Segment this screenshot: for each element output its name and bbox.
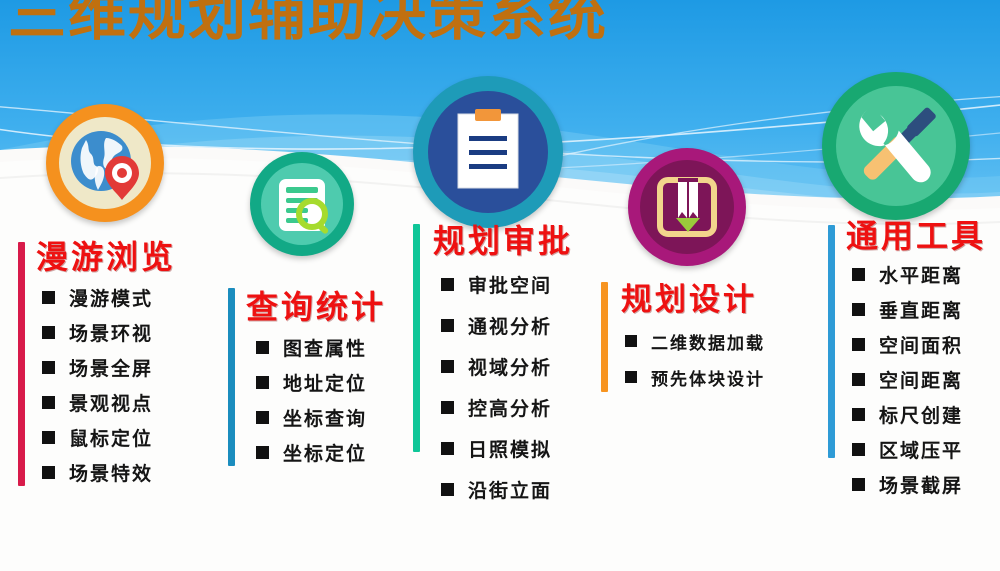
bullet-icon: [852, 338, 865, 351]
column-items-approval: 审批空间 通视分析 视域分析 控高分析 日照模拟 沿街立面: [441, 264, 552, 510]
icon-badge-design[interactable]: [628, 148, 746, 266]
list-item-label: 日照模拟: [468, 435, 552, 462]
column-accent-bar-tools: [828, 225, 835, 458]
column-items-design: 二维数据加载 预先体块设计: [625, 323, 765, 395]
list-item[interactable]: 空间距离: [852, 362, 963, 397]
list-item-label: 控高分析: [468, 394, 552, 421]
slide-canvas: 三维规划辅助决策系统: [0, 0, 1000, 571]
bullet-icon: [256, 376, 269, 389]
list-item[interactable]: 漫游模式: [42, 280, 153, 315]
bullet-icon: [852, 303, 865, 316]
bullet-icon: [256, 341, 269, 354]
column-accent-bar-roam: [18, 242, 25, 486]
column-accent-bar-design: [601, 282, 608, 392]
list-item-label: 坐标定位: [283, 439, 367, 466]
list-item-label: 漫游模式: [69, 284, 153, 311]
column-heading-tools: 通用工具: [846, 211, 986, 257]
column-approval: 规划审批 审批空间 通视分析 视域分析 控高分析 日照模拟: [413, 222, 623, 512]
bullet-icon: [852, 478, 865, 491]
page-title: 三维规划辅助决策系统: [8, 0, 608, 45]
list-item[interactable]: 标尺创建: [852, 397, 963, 432]
column-accent-bar-query: [228, 288, 235, 466]
list-item-label: 沿街立面: [468, 476, 552, 503]
list-item-label: 预先体块设计: [651, 365, 765, 390]
list-item-label: 场景特效: [69, 459, 153, 486]
list-item-label: 标尺创建: [879, 401, 963, 428]
column-items-roam: 漫游模式 场景环视 场景全屏 景观视点 鼠标定位 场景特效: [42, 280, 153, 490]
list-item-label: 坐标查询: [283, 404, 367, 431]
globe-location-icon: [46, 104, 164, 222]
list-item-label: 地址定位: [283, 369, 367, 396]
bullet-icon: [42, 396, 55, 409]
list-item-label: 视域分析: [468, 353, 552, 380]
bullet-icon: [852, 443, 865, 456]
bullet-icon: [42, 466, 55, 479]
column-tools: 通用工具 水平距离 垂直距离 空间面积 空间距离 标尺创建: [828, 212, 1000, 512]
bullet-icon: [42, 431, 55, 444]
list-item[interactable]: 水平距离: [852, 257, 963, 292]
column-items-query: 图查属性 地址定位 坐标查询 坐标定位: [256, 330, 367, 470]
column-roam: 漫游浏览 漫游模式 场景环视 场景全屏 景观视点 鼠标定位: [18, 232, 218, 502]
bullet-icon: [441, 319, 454, 332]
icon-badge-roam[interactable]: [46, 104, 164, 222]
list-item[interactable]: 坐标定位: [256, 435, 367, 470]
list-item-label: 鼠标定位: [69, 424, 153, 451]
list-item-label: 审批空间: [468, 271, 552, 298]
list-item[interactable]: 垂直距离: [852, 292, 963, 327]
list-item[interactable]: 视域分析: [441, 346, 552, 387]
list-item-label: 空间面积: [879, 331, 963, 358]
list-item-label: 通视分析: [468, 312, 552, 339]
bullet-icon: [441, 442, 454, 455]
list-item[interactable]: 区域压平: [852, 432, 963, 467]
list-item-label: 场景截屏: [879, 471, 963, 498]
list-item[interactable]: 地址定位: [256, 365, 367, 400]
list-item[interactable]: 场景截屏: [852, 467, 963, 502]
list-item-label: 场景环视: [69, 319, 153, 346]
list-item[interactable]: 空间面积: [852, 327, 963, 362]
list-item[interactable]: 控高分析: [441, 387, 552, 428]
bullet-icon: [441, 401, 454, 414]
icon-badge-tools[interactable]: [822, 72, 970, 220]
list-item-label: 景观视点: [69, 389, 153, 416]
column-items-tools: 水平距离 垂直距离 空间面积 空间距离 标尺创建 区域压平: [852, 257, 963, 502]
list-item[interactable]: 坐标查询: [256, 400, 367, 435]
list-item-label: 区域压平: [879, 436, 963, 463]
bullet-icon: [625, 371, 637, 383]
list-item[interactable]: 鼠标定位: [42, 420, 153, 455]
column-design: 规划设计 二维数据加载 预先体块设计: [601, 278, 821, 418]
document-search-icon: [250, 152, 354, 256]
list-item-label: 场景全屏: [69, 354, 153, 381]
list-item[interactable]: 场景全屏: [42, 350, 153, 385]
column-heading-approval: 规划审批: [433, 216, 573, 262]
list-item[interactable]: 场景环视: [42, 315, 153, 350]
book-download-icon: [628, 148, 746, 266]
list-item-label: 空间距离: [879, 366, 963, 393]
bullet-icon: [441, 483, 454, 496]
column-accent-bar-approval: [413, 224, 420, 452]
icon-badge-query[interactable]: [250, 152, 354, 256]
bullet-icon: [852, 373, 865, 386]
list-item[interactable]: 通视分析: [441, 305, 552, 346]
list-item-label: 图查属性: [283, 334, 367, 361]
bullet-icon: [42, 326, 55, 339]
list-item[interactable]: 二维数据加载: [625, 323, 765, 359]
bullet-icon: [256, 446, 269, 459]
bullet-icon: [852, 408, 865, 421]
column-heading-query: 查询统计: [246, 282, 386, 328]
bullet-icon: [256, 411, 269, 424]
column-heading-design: 规划设计: [621, 274, 757, 319]
wrench-screwdriver-icon: [822, 72, 970, 220]
column-heading-roam: 漫游浏览: [36, 232, 176, 278]
list-item-label: 二维数据加载: [651, 329, 765, 354]
bullet-icon: [441, 360, 454, 373]
list-item[interactable]: 审批空间: [441, 264, 552, 305]
bullet-icon: [441, 278, 454, 291]
bullet-icon: [625, 335, 637, 347]
list-item[interactable]: 图查属性: [256, 330, 367, 365]
list-item[interactable]: 日照模拟: [441, 428, 552, 469]
list-item[interactable]: 场景特效: [42, 455, 153, 490]
list-item[interactable]: 预先体块设计: [625, 359, 765, 395]
list-item-label: 水平距离: [879, 261, 963, 288]
bullet-icon: [852, 268, 865, 281]
bullet-icon: [42, 291, 55, 304]
column-query: 查询统计 图查属性 地址定位 坐标查询 坐标定位: [228, 285, 428, 485]
bullet-icon: [42, 361, 55, 374]
list-item-label: 垂直距离: [879, 296, 963, 323]
icon-badge-approval[interactable]: [413, 76, 563, 228]
list-item[interactable]: 沿街立面: [441, 469, 552, 510]
list-item[interactable]: 景观视点: [42, 385, 153, 420]
clipboard-icon: [413, 76, 563, 228]
